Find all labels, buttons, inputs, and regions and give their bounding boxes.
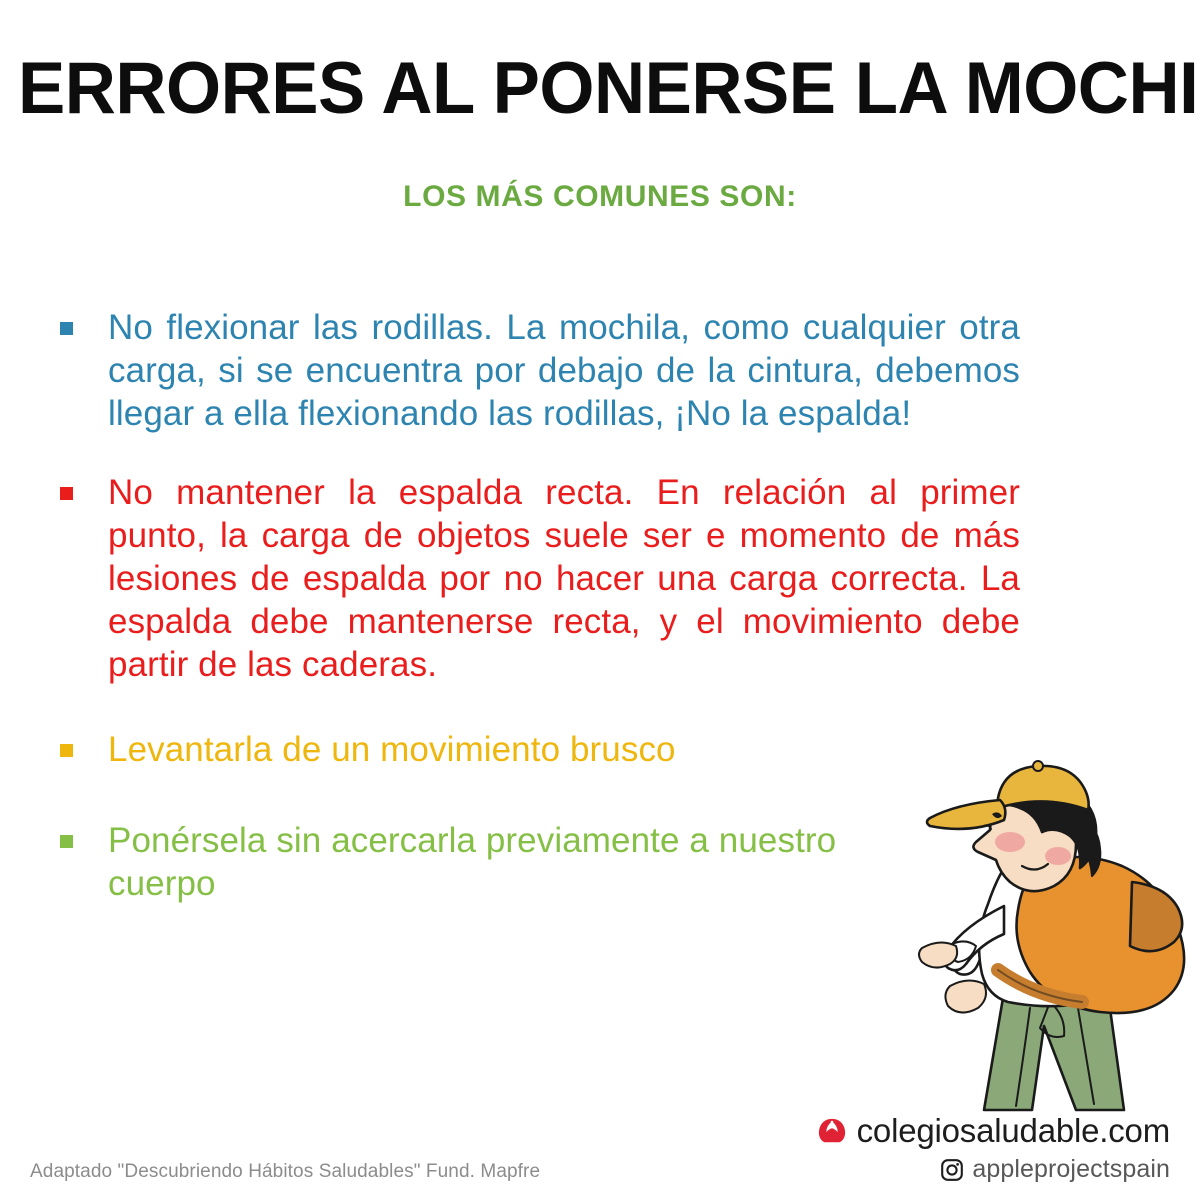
infographic-poster: ERRORES AL PONERSE LA MOCHILA LOS MÁS CO… <box>0 0 1200 1200</box>
list-item-text: Ponérsela sin acercarla previamente a nu… <box>108 819 868 905</box>
arm-front <box>944 906 1004 970</box>
apple-logo-icon <box>817 1116 847 1146</box>
list-item-text: Levantarla de un movimiento brusco <box>108 728 1020 771</box>
list-item: No mantener la espalda recta. En relació… <box>60 471 1020 686</box>
list-item-text: No mantener la espalda recta. En relació… <box>108 471 1020 686</box>
page-title: ERRORES AL PONERSE LA MOCHILA <box>18 52 1182 125</box>
page-subtitle: LOS MÁS COMUNES SON: <box>0 180 1200 214</box>
pants-shape <box>984 994 1124 1110</box>
backpack-pocket <box>1130 882 1182 951</box>
backpack-shape <box>1017 857 1185 1013</box>
cheek-right <box>1045 847 1071 865</box>
square-bullet-icon <box>60 322 73 335</box>
hand-lower <box>945 980 986 1012</box>
square-bullet-icon <box>60 487 73 500</box>
instagram-handle: appleprojectspain <box>972 1155 1170 1184</box>
brand-line[interactable]: colegiosaludable.com <box>817 1112 1170 1150</box>
hand-upper <box>919 942 957 967</box>
list-item: Levantarla de un movimiento brusco <box>60 728 1020 771</box>
arm-back <box>953 908 1006 975</box>
list-item-text: No flexionar las rodillas. La mochila, c… <box>108 306 1020 435</box>
bullet-list: No flexionar las rodillas. La mochila, c… <box>60 306 1020 905</box>
source-note: Adaptado "Descubriendo Hábitos Saludable… <box>30 1161 540 1183</box>
square-bullet-icon <box>60 835 73 848</box>
brand-label: colegiosaludable.com <box>857 1112 1170 1150</box>
list-item: No flexionar las rodillas. La mochila, c… <box>60 306 1020 435</box>
list-item: Ponérsela sin acercarla previamente a nu… <box>60 819 1020 905</box>
square-bullet-icon <box>60 744 73 757</box>
instagram-line[interactable]: appleprojectspain <box>940 1155 1170 1184</box>
instagram-icon <box>940 1158 964 1182</box>
